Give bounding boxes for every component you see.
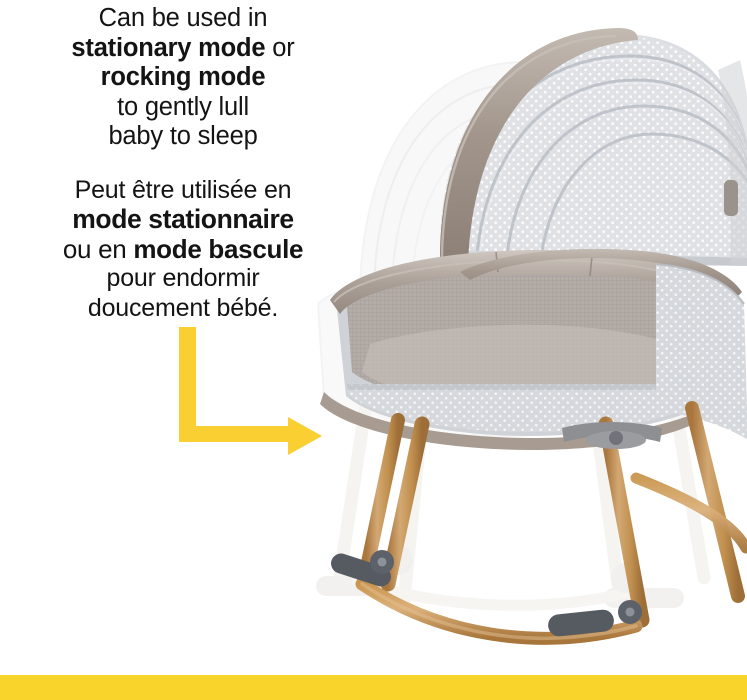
french-line-3-light: ou en (63, 234, 127, 264)
promo-copy-block: Can be used in stationary mode or rockin… (0, 0, 366, 323)
promo-text-french: Peut être utilisée en mode stationnaire … (0, 176, 366, 324)
english-line-4: to gently lull (0, 93, 366, 123)
english-line-2-suffix: or (272, 34, 294, 62)
callout-arrow (170, 318, 335, 463)
english-line-3: rocking mode (0, 63, 366, 93)
bottom-accent-bar (0, 675, 747, 700)
english-line-2-bold: stationary mode (71, 34, 265, 62)
promo-text-english: Can be used in stationary mode or rockin… (0, 4, 366, 152)
yellow-elbow-arrow-shape (179, 327, 322, 455)
french-line-3-bold: mode bascule (133, 234, 303, 264)
english-line-5: baby to sleep (0, 122, 366, 152)
english-line-1: Can be used in (0, 4, 366, 34)
french-line-4: pour endormir (0, 264, 366, 294)
french-line-3: ou en mode bascule (0, 235, 366, 265)
french-line-1: Peut être utilisée en (0, 176, 366, 206)
product-photo (300, 0, 747, 678)
french-line-2: mode stationnaire (0, 205, 366, 235)
english-line-2: stationary mode or (0, 34, 366, 64)
